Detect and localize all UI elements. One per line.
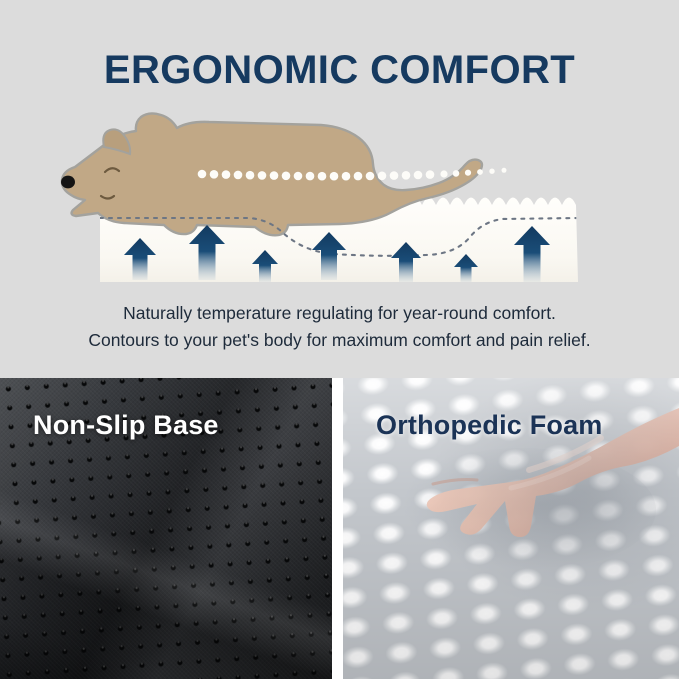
panel-label-orthopedic-foam: Orthopedic Foam [376,410,603,441]
panel-orthopedic-foam: Orthopedic Foam [343,378,679,679]
dog-on-mattress-illustration [0,110,679,295]
material-panels: Non-Slip Base [0,378,679,679]
page-title: ERGONOMIC COMFORT [0,48,679,93]
hero-section: ERGONOMIC COMFORT [0,0,679,378]
caption-line-2: Contours to your pet's body for maximum … [0,327,679,354]
panel-non-slip-base: Non-Slip Base [0,378,332,679]
panel-label-non-slip-base: Non-Slip Base [33,410,219,441]
caption-line-1: Naturally temperature regulating for yea… [0,300,679,327]
dog-nose [61,176,75,189]
feature-caption: Naturally temperature regulating for yea… [0,300,679,354]
product-feature-infographic: ERGONOMIC COMFORT [0,0,679,679]
